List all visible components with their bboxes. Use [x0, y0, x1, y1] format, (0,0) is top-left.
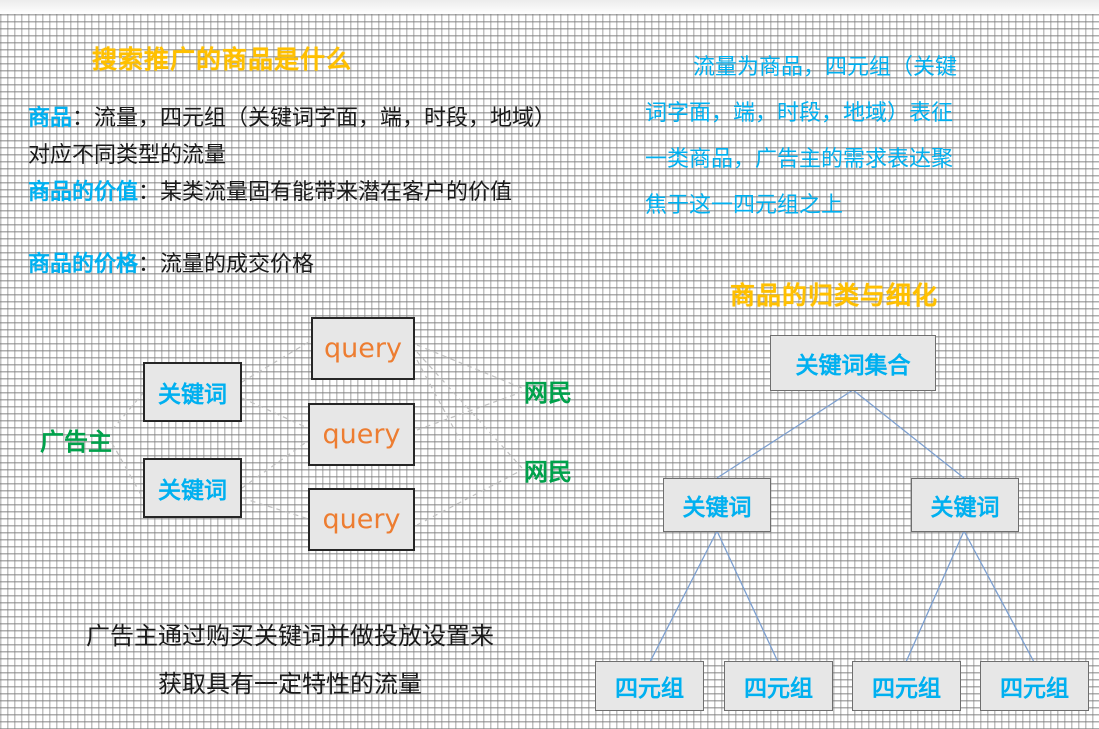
definition-item-3: 商品的价格：流量的成交价格 — [28, 246, 568, 283]
definition-item-1: 商品：流量，四元组（关键词字面，端，时段，地域）对应不同类型的流量 — [28, 100, 568, 174]
keyword-box-1-label: 关键词 — [158, 375, 227, 409]
tree-node-keyword-right-label: 关键词 — [931, 488, 1000, 522]
edge-kwl-leaf2 — [717, 531, 778, 662]
definition-term-1: 商品 — [28, 106, 72, 131]
bottom-caption: 广告主通过购买关键词并做投放设置来 获取具有一定特性的流量 — [30, 612, 550, 708]
query-box-1-label: query — [324, 333, 402, 364]
tree-node-keyword-left-label: 关键词 — [683, 488, 752, 522]
keyword-box-2-label: 关键词 — [158, 471, 227, 505]
tree-leaf-4-label: 四元组 — [1000, 669, 1069, 703]
definition-separator-2: ： — [138, 180, 160, 205]
tree-leaf-1[interactable]: 四元组 — [595, 661, 704, 711]
tree-leaf-2-label: 四元组 — [744, 669, 813, 703]
edge-kwl-leaf1 — [650, 531, 717, 662]
tree-leaf-3[interactable]: 四元组 — [852, 661, 961, 711]
query-box-1[interactable]: query — [311, 317, 415, 380]
tree-node-keyword-right[interactable]: 关键词 — [911, 478, 1019, 532]
definition-term-3: 商品的价格 — [28, 252, 138, 277]
query-box-2-label: query — [323, 419, 401, 450]
tree-leaf-4[interactable]: 四元组 — [980, 661, 1089, 711]
definition-separator-3: ： — [138, 252, 160, 277]
bottom-caption-line-2: 获取具有一定特性的流量 — [30, 660, 550, 708]
definition-separator-1: ： — [72, 106, 94, 131]
definition-list: 商品：流量，四元组（关键词字面，端，时段，地域）对应不同类型的流量 商品的价值：… — [28, 100, 568, 211]
edge-root-right — [853, 390, 964, 478]
query-box-3-label: query — [323, 504, 401, 535]
query-box-3[interactable]: query — [308, 488, 415, 551]
keyword-box-1[interactable]: 关键词 — [143, 362, 242, 422]
definition-text-2: 某类流量固有能带来潜在客户的价值 — [160, 180, 512, 205]
definition-text-1: 流量，四元组（关键词字面，端，时段，地域）对应不同类型的流量 — [28, 106, 556, 168]
tree-leaf-2[interactable]: 四元组 — [724, 661, 833, 711]
tree-leaf-3-label: 四元组 — [872, 669, 941, 703]
right-paragraph-line-3: 一类商品，广告主的需求表达聚 — [645, 137, 985, 183]
right-title: 商品的归类与细化 — [730, 276, 938, 312]
tree-node-keyword-left[interactable]: 关键词 — [663, 478, 771, 532]
edge-root-left — [717, 390, 853, 478]
query-box-2[interactable]: query — [308, 403, 415, 466]
definition-term-2: 商品的价值 — [28, 180, 138, 205]
advertiser-label: 广告主 — [40, 422, 112, 457]
tree-leaf-1-label: 四元组 — [615, 669, 684, 703]
edge-kwr-leaf4 — [964, 531, 1034, 662]
bottom-caption-line-1: 广告主通过购买关键词并做投放设置来 — [30, 612, 550, 660]
definition-item-2: 商品的价值：某类流量固有能带来潜在客户的价值 — [28, 174, 568, 211]
slide-canvas: 搜索推广的商品是什么 商品：流量，四元组（关键词字面，端，时段，地域）对应不同类… — [0, 0, 1099, 729]
right-paragraph-line-4: 焦于这一四元组之上 — [645, 183, 985, 229]
tree-root-label: 关键词集合 — [796, 346, 911, 380]
edge-kwr-leaf3 — [906, 531, 964, 662]
right-paragraph-line-2: 词字面，端，时段，地域）表征 — [645, 91, 985, 137]
right-paragraph: 流量为商品，四元组（关键 词字面，端，时段，地域）表征 一类商品，广告主的需求表… — [645, 45, 985, 229]
definition-price: 商品的价格：流量的成交价格 — [28, 246, 568, 283]
definition-text-3: 流量的成交价格 — [160, 252, 314, 277]
tree-root-box[interactable]: 关键词集合 — [770, 335, 936, 391]
netizen-label-2: 网民 — [524, 452, 572, 487]
netizen-label-1: 网民 — [524, 373, 572, 408]
left-title: 搜索推广的商品是什么 — [92, 40, 352, 76]
keyword-box-2[interactable]: 关键词 — [143, 458, 242, 518]
right-paragraph-line-1: 流量为商品，四元组（关键 — [645, 45, 985, 91]
